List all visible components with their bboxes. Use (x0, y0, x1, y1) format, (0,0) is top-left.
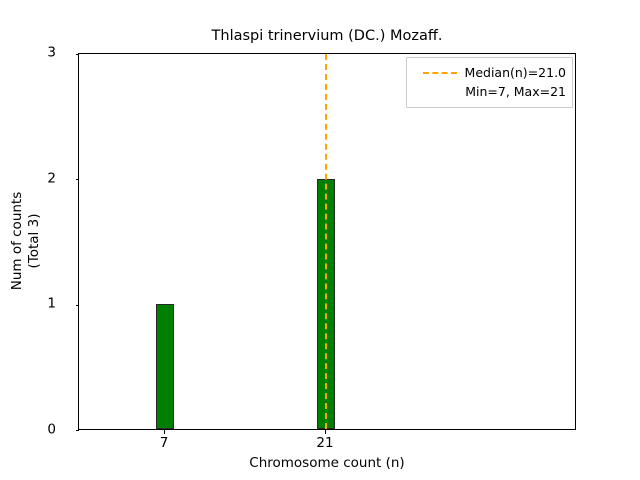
dashed-line-icon (423, 72, 457, 74)
legend-label-minmax: Min=7, Max=21 (465, 84, 566, 99)
y-tick-label-3: 3 (47, 46, 56, 60)
x-tick-label-7: 7 (160, 437, 169, 451)
y-tick-mark-2 (76, 179, 80, 180)
y-tick-label-0: 0 (47, 423, 56, 437)
y-tick-label-1: 1 (47, 297, 56, 311)
plot-axes (78, 53, 576, 430)
chart-legend: Median(n)=21.0 Min=7, Max=21 (406, 57, 573, 108)
x-axis-label: Chromosome count (n) (78, 455, 576, 471)
y-tick-mark-3 (76, 54, 80, 55)
legend-label-median: Median(n)=21.0 (465, 65, 566, 80)
plot-area (79, 54, 575, 429)
chart-title: Thlaspi trinervium (DC.) Mozaff. (78, 28, 576, 44)
y-axis-label-line2: (Total 3) (26, 192, 43, 291)
bar-7 (156, 304, 174, 429)
y-axis-label-line1: Num of counts (9, 192, 26, 291)
median-line (325, 54, 327, 429)
y-tick-label-2: 2 (47, 172, 56, 186)
x-tick-mark-21 (325, 430, 326, 434)
legend-entry-minmax: Min=7, Max=21 (413, 82, 566, 101)
chart-figure: Thlaspi trinervium (DC.) Mozaff. Num of … (0, 0, 640, 480)
y-tick-mark-1 (76, 305, 80, 306)
x-tick-label-21: 21 (316, 437, 333, 451)
legend-entry-median: Median(n)=21.0 (413, 63, 566, 82)
x-tick-mark-7 (164, 430, 165, 434)
y-tick-mark-0 (76, 430, 80, 431)
